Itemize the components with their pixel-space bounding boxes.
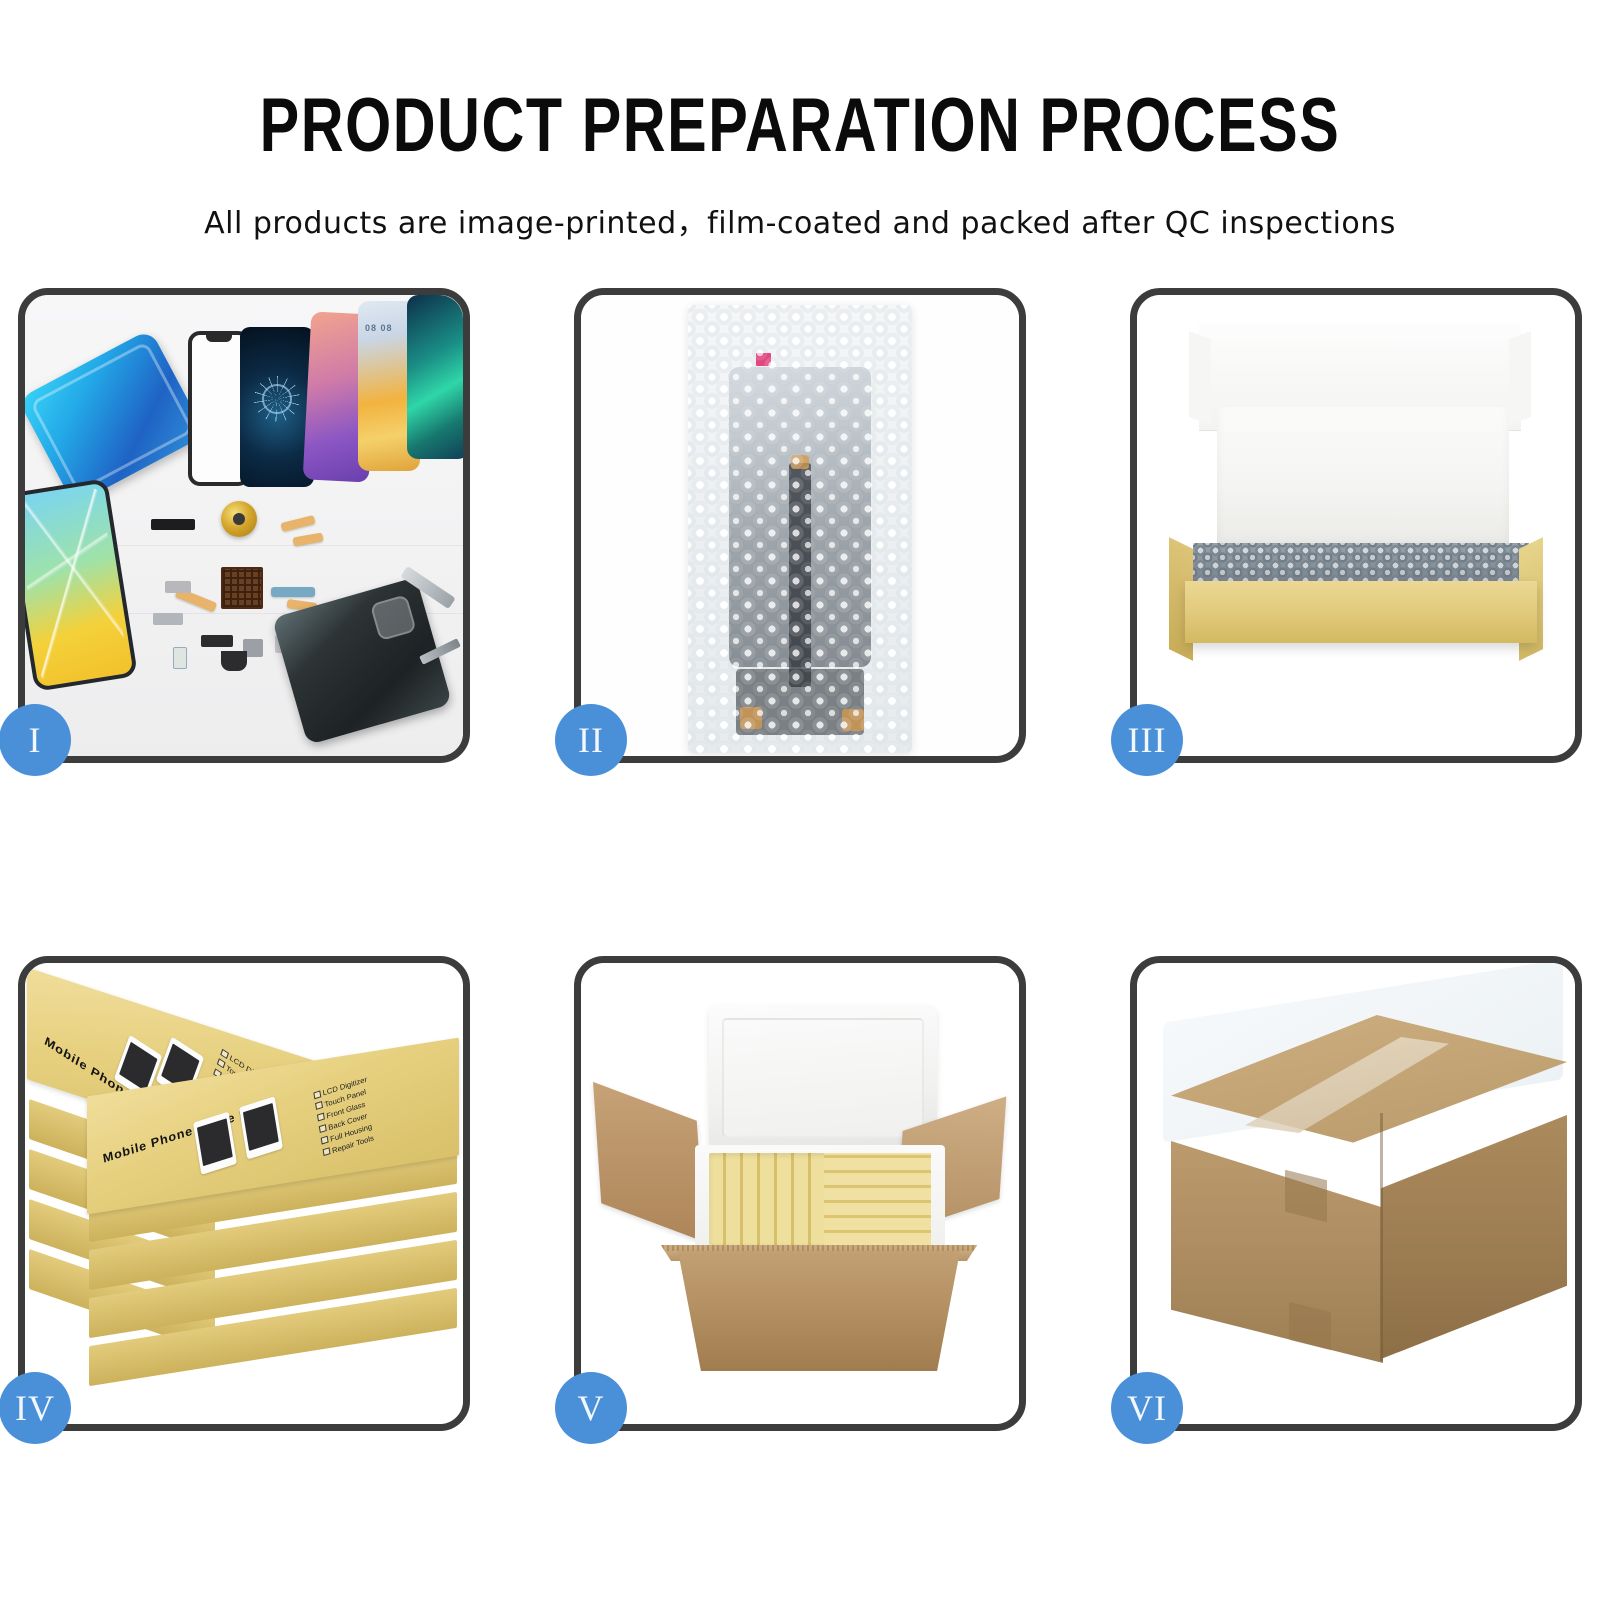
step-panel-4[interactable]: Mobile Phone Spare Parts LCD Digitizer T… (18, 956, 470, 1431)
carton-corner-edge (1380, 1113, 1383, 1361)
step-panel-1[interactable]: I (18, 288, 470, 763)
small-part (201, 635, 233, 647)
step-image-5 (581, 963, 1019, 1424)
step-image-6 (1137, 963, 1575, 1424)
pink-qc-sticker (756, 353, 771, 366)
process-step-grid: I II (18, 288, 1582, 1456)
small-part (165, 581, 191, 593)
ic-chip (221, 567, 263, 609)
step-panel-2[interactable]: II (574, 288, 1026, 763)
carton-right-face (1381, 1115, 1567, 1359)
infographic-page: PRODUCT PREPARATION PROCESS All products… (0, 0, 1600, 1600)
step-panel-3[interactable]: III (1130, 288, 1582, 763)
step-badge-2: II (555, 704, 627, 776)
speaker-module (221, 651, 247, 671)
step-image-2 (581, 295, 1019, 756)
carton-left-face (1171, 1141, 1383, 1363)
sim-tray (173, 647, 187, 669)
bubble-wrap-bag (688, 305, 912, 753)
flex-ribbon (789, 463, 811, 687)
step-badge-3: III (1111, 704, 1183, 776)
header: PRODUCT PREPARATION PROCESS All products… (0, 0, 1600, 242)
retail-box-checklist-2: LCD Digitizer Touch Panel Front Glass Ba… (313, 1074, 377, 1160)
styrofoam-lid (709, 1005, 937, 1151)
gold-connector (740, 707, 762, 729)
foam-sheet (1217, 407, 1509, 547)
page-title: PRODUCT PREPARATION PROCESS (176, 88, 1424, 164)
step-badge-1: I (0, 704, 71, 776)
step-badge-6: VI (1111, 1372, 1183, 1444)
box-front-wall (1185, 581, 1537, 643)
step-panel-5[interactable]: V (574, 956, 1026, 1431)
step-image-1 (25, 295, 463, 756)
gold-connector (842, 709, 864, 731)
step-image-4: Mobile Phone Spare Parts LCD Digitizer T… (25, 963, 463, 1424)
gold-connector (791, 455, 809, 469)
step-badge-4: IV (0, 1372, 71, 1444)
phone-broken-screen (25, 478, 138, 692)
bubble-wrapped-contents (1193, 543, 1529, 585)
box-phone-image (239, 1096, 283, 1159)
flex-cable (280, 515, 315, 532)
small-part (153, 613, 183, 625)
carton-flap-left (593, 1082, 705, 1242)
adhesive-film (25, 329, 206, 505)
step-panel-6[interactable]: VI (1130, 956, 1582, 1431)
phone-teal (407, 295, 463, 459)
carton-body (655, 1251, 983, 1371)
step-image-3 (1137, 295, 1575, 756)
flex-cable (271, 587, 315, 597)
wireless-charging-coil (221, 501, 257, 537)
packed-retail-boxes (709, 1153, 931, 1245)
step-badge-5: V (555, 1372, 627, 1444)
connector-bar (151, 519, 195, 530)
page-subtitle: All products are image-printed，film-coat… (0, 198, 1600, 242)
